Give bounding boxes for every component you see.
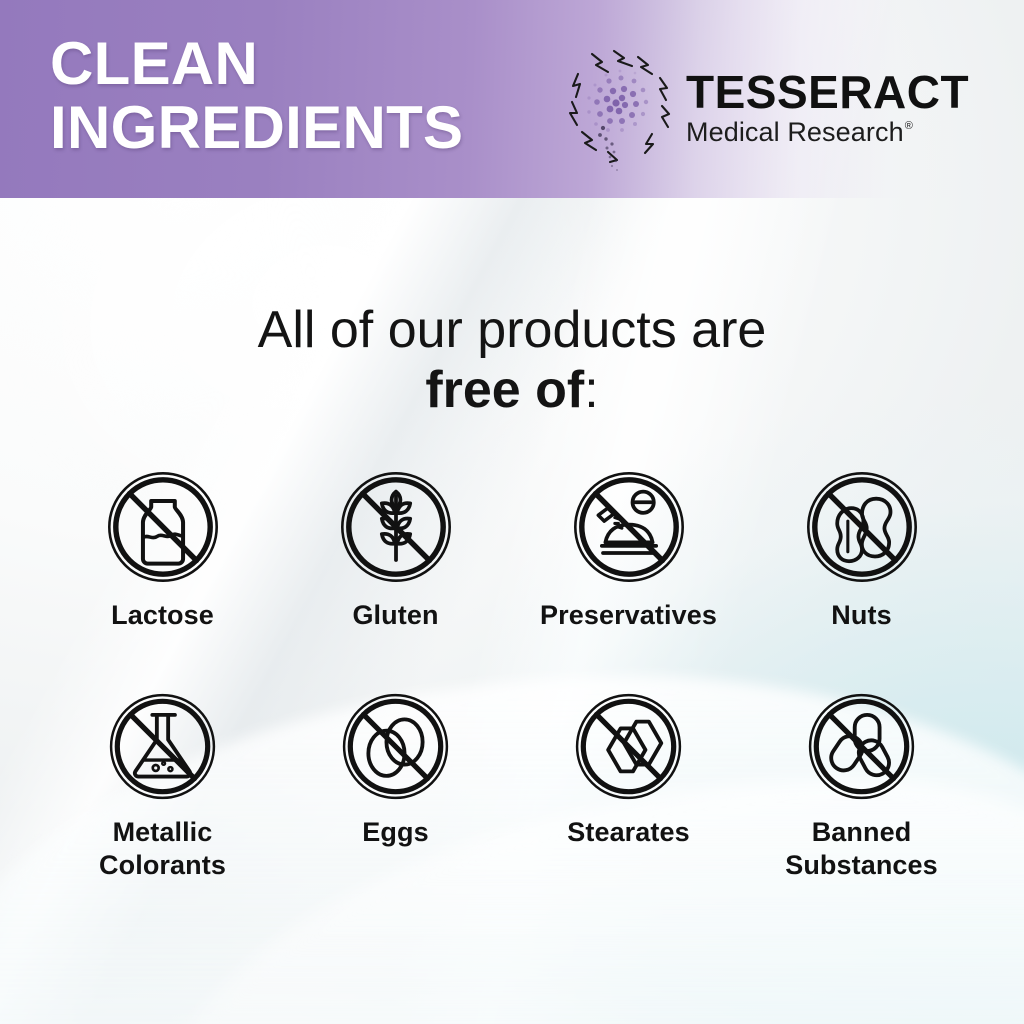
no-flask-icon (106, 690, 219, 803)
headline-colon: : (584, 361, 598, 419)
free-of-item: Banned Substances (745, 690, 978, 882)
no-hexagon-icon (572, 690, 685, 803)
free-of-item: Gluten (279, 468, 512, 632)
item-label: Metallic Colorants (99, 816, 226, 882)
no-wheat-icon (337, 468, 455, 586)
free-of-item: Stearates (512, 690, 745, 882)
free-of-item: Preservatives (512, 468, 745, 632)
no-sprayed-food-icon (570, 468, 688, 586)
clean-ingredients-infographic: CLEAN INGREDIENTS (0, 0, 1024, 1024)
free-of-icon-grid: Lactose Gluten (46, 468, 978, 882)
item-label: Eggs (362, 816, 428, 849)
no-eggs-icon (339, 690, 452, 803)
no-peanuts-icon (803, 468, 921, 586)
logo-tagline-row: Medical Research ® (686, 119, 913, 146)
free-of-item: Lactose (46, 468, 279, 632)
item-label: Banned Substances (785, 816, 938, 882)
item-label: Nuts (831, 599, 891, 632)
item-label: Gluten (352, 599, 438, 632)
headline-line-1: All of our products are (0, 300, 1024, 360)
tesseract-spiral-icon (556, 40, 676, 175)
logo-tagline: Medical Research (686, 119, 904, 146)
logo-wordmark: TESSERACT (686, 69, 969, 115)
headline-line-2: free of: (0, 360, 1024, 420)
free-of-item: Eggs (279, 690, 512, 882)
registered-trademark-icon: ® (905, 120, 913, 132)
brand-logo: TESSERACT Medical Research ® (556, 40, 969, 175)
item-label: Stearates (567, 816, 689, 849)
logo-text-block: TESSERACT Medical Research ® (686, 69, 969, 146)
item-label: Lactose (111, 599, 214, 632)
item-label: Preservatives (540, 599, 717, 632)
headline: All of our products are free of: (0, 300, 1024, 421)
banner-title-line2: INGREDIENTS (50, 96, 463, 160)
banner-title-line1: CLEAN (50, 30, 258, 97)
no-milk-bottle-icon (104, 468, 222, 586)
no-pills-icon (805, 690, 918, 803)
free-of-item: Nuts (745, 468, 978, 632)
headline-emphasis: free of (425, 361, 584, 419)
banner-title: CLEAN INGREDIENTS (50, 32, 463, 160)
free-of-item: Metallic Colorants (46, 690, 279, 882)
